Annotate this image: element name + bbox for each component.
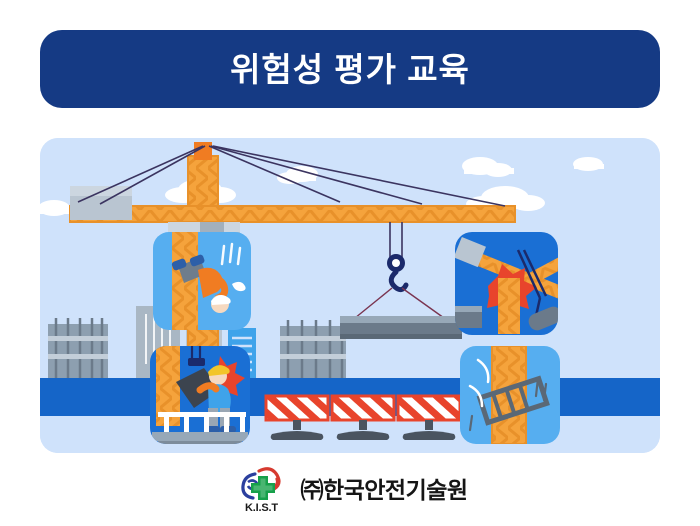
barricade <box>332 396 394 440</box>
illustration-panel <box>40 138 660 453</box>
card-falling-object <box>460 346 560 444</box>
kist-abbreviation: K.I.S.T <box>245 502 278 514</box>
construction-site-illustration <box>40 138 660 453</box>
kist-emblem-icon <box>239 465 283 501</box>
barricade <box>266 396 328 440</box>
card-fall-from-height <box>153 232 251 330</box>
barricade <box>398 396 460 440</box>
kist-logo-mark: K.I.S.T <box>232 465 290 517</box>
company-name: ㈜한국안전기술원 <box>300 471 467 505</box>
page-title: 위험성 평가 교육 <box>230 53 470 86</box>
card-struck-by-load <box>150 346 250 446</box>
page-title-banner: 위험성 평가 교육 <box>40 30 660 108</box>
footer-logo: K.I.S.T ㈜한국안전기술원 <box>0 462 700 520</box>
barricades-group <box>266 396 460 440</box>
